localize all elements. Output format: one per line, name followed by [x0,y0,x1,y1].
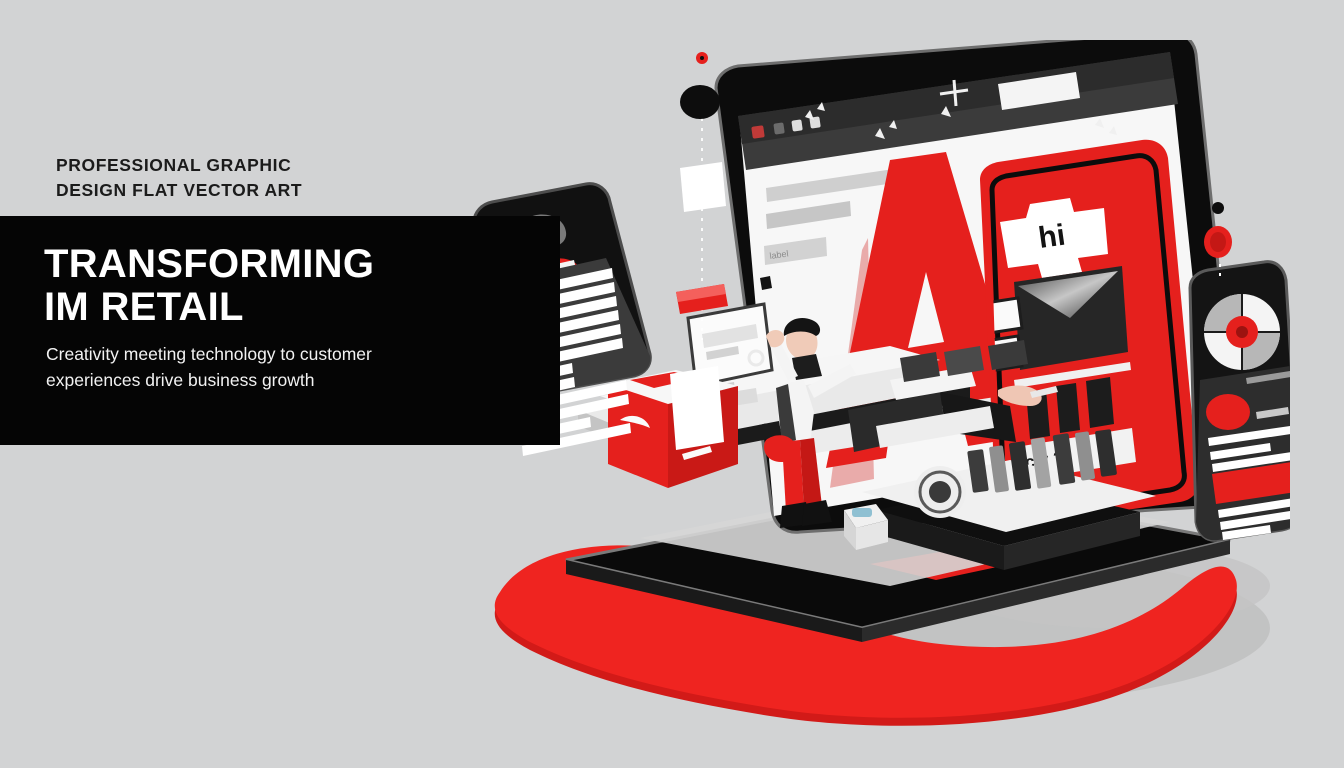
poster-canvas: label [0,0,1344,768]
subtitle: Creativity meeting technology to custome… [46,341,546,394]
kicker-line-1: PROFESSIONAL GRAPHIC [56,153,302,178]
headline-line-1: TRANSFORMING [44,243,544,286]
svg-text:hi: hi [1036,219,1067,255]
headline-line-2: IM RETAIL [44,286,544,329]
panel-monitor [1014,266,1128,370]
isometric-illustration: label [470,40,1290,730]
kicker-line-2: DESIGN FLAT VECTOR ART [56,178,302,203]
subhead-line-1: Creativity meeting technology to custome… [46,341,546,367]
kicker-text: PROFESSIONAL GRAPHIC DESIGN FLAT VECTOR … [56,153,302,204]
pie-chart [1204,294,1280,370]
right-phone[interactable] [1190,262,1290,541]
subhead-line-2: experiences drive business growth [46,367,546,393]
page-title: TRANSFORMING IM RETAIL [44,243,544,329]
